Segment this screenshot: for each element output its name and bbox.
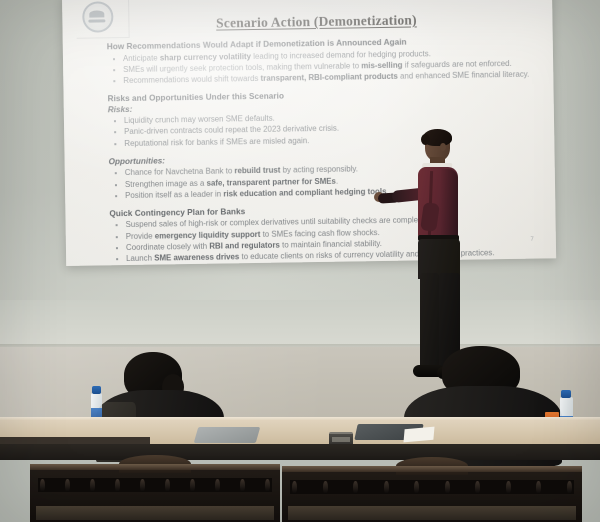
presenter-hair [423,129,452,146]
wall-lower-band [0,300,600,350]
chair-left [30,464,280,522]
slide-content: Scenario Action (Demonetization) How Rec… [62,0,556,266]
chair-top-rail [282,466,582,472]
presenter-ear [440,143,446,151]
chair-right [282,466,582,522]
bottle-label [91,408,102,417]
bottle-cap [92,386,101,394]
desk-apron [0,444,600,460]
chair-panel [36,506,274,520]
chair-panel [288,506,576,520]
bottle-cap [561,390,571,398]
slide-section: How Recommendations Would Adapt if Demon… [107,36,540,87]
presenter-shirt-shading [440,169,458,239]
slide-title: Scenario Action (Demonetization) [94,11,538,34]
chair-spindles [292,480,572,494]
laptop-left [194,427,261,443]
bullet-list: Anticipate sharp currency volatility lea… [107,46,539,86]
paper-sheets [403,427,434,443]
chair-top-rail [30,464,280,470]
slide-page-number: 7 [530,237,533,243]
presentation-photo-scene: Scenario Action (Demonetization) How Rec… [0,0,600,522]
desk-left-ledge [0,437,150,444]
chair-spindles [40,478,270,492]
projection-screen: Scenario Action (Demonetization) How Rec… [62,0,556,266]
